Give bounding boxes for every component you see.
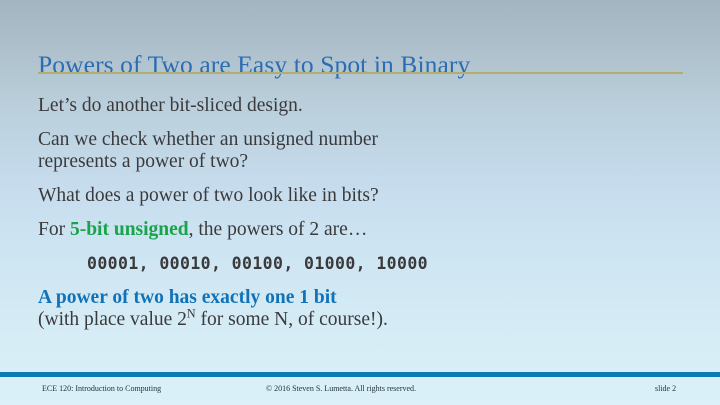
body-line-2b: represents a power of two? (38, 151, 678, 173)
exponent-n: N (187, 307, 196, 321)
body-line-4-suffix: , the powers of 2 are… (189, 219, 368, 240)
conclusion-parenthetical: (with place value 2N for some N, of cour… (38, 309, 678, 331)
body-line-1: Let’s do another bit-sliced design. (38, 95, 678, 117)
slide-footer: ECE 120: Introduction to Computing © 201… (0, 383, 720, 397)
body-line-2a: Can we check whether an unsigned number (38, 129, 678, 151)
title-underline-rule (38, 72, 683, 74)
binary-values-row: 00001, 00010, 00100, 01000, 10000 (38, 253, 678, 275)
footer-slide-number: slide 2 (655, 383, 676, 395)
highlight-one-1-bit: A power of two has exactly one 1 bit (38, 287, 337, 308)
parenthetical-post: for some N, of course!). (196, 309, 388, 330)
binary-powers-of-two: 00001, 00010, 00100, 01000, 10000 (38, 253, 678, 275)
parenthetical-pre: (with place value 2 (38, 309, 187, 330)
footer-accent-bar (0, 372, 720, 377)
footer-course-name: ECE 120: Introduction to Computing (42, 383, 161, 395)
conclusion-line: A power of two has exactly one 1 bit (38, 287, 678, 309)
presentation-slide: Powers of Two are Easy to Spot in Binary… (0, 0, 720, 405)
bullet-question-bits: What does a power of two look like in bi… (38, 185, 678, 207)
slide-title: Powers of Two are Easy to Spot in Binary (38, 50, 470, 80)
body-line-4: For 5-bit unsigned, the powers of 2 are… (38, 219, 678, 241)
bullet-question-unsigned: Can we check whether an unsigned number … (38, 129, 678, 173)
footer-copyright: © 2016 Steven S. Lumetta. All rights res… (266, 383, 416, 395)
highlight-5-bit-unsigned: 5-bit unsigned (70, 219, 189, 240)
body-line-4-prefix: For (38, 219, 70, 240)
conclusion-block: A power of two has exactly one 1 bit (wi… (38, 287, 678, 331)
bullet-five-bit-unsigned: For 5-bit unsigned, the powers of 2 are… (38, 219, 678, 241)
slide-body: Let’s do another bit-sliced design. Can … (38, 95, 678, 343)
body-line-3: What does a power of two look like in bi… (38, 185, 678, 207)
bullet-intro: Let’s do another bit-sliced design. (38, 95, 678, 117)
